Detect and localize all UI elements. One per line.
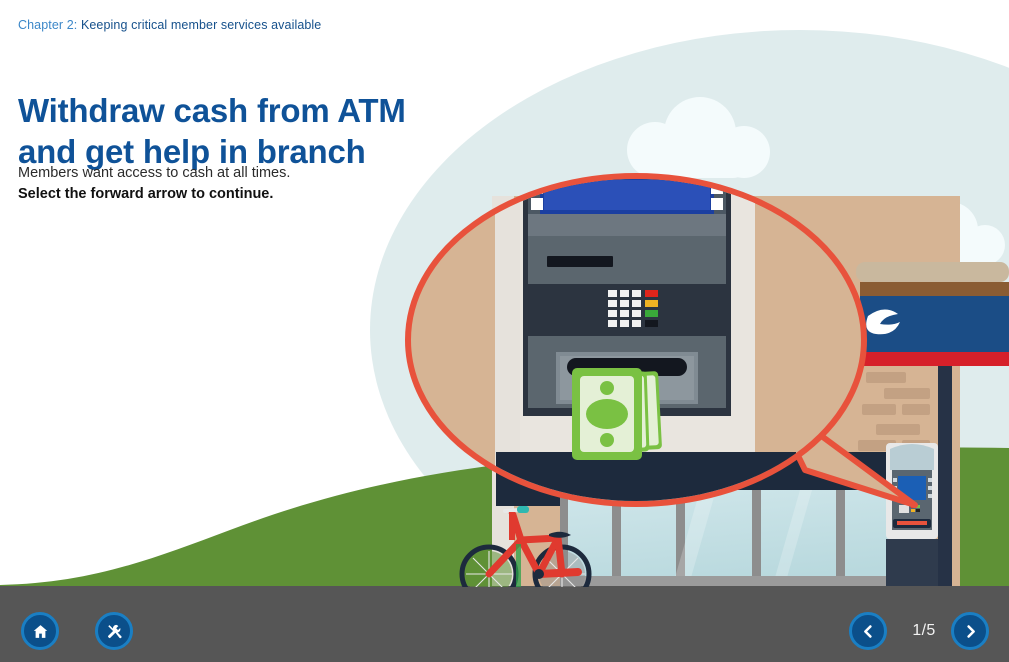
page-title: Withdraw cash from ATM and get help in b… (18, 90, 538, 172)
chapter-label: Chapter 2: Keeping critical member servi… (18, 18, 321, 32)
branch-sign (856, 262, 1009, 366)
chevron-left-icon (861, 624, 876, 639)
page-indicator: 1/5 (898, 620, 950, 642)
chapter-prefix: Chapter 2: (18, 18, 77, 32)
next-button[interactable] (951, 612, 989, 650)
body-line-1: Members want access to cash at all times… (18, 163, 478, 184)
tools-icon (106, 623, 123, 640)
previous-button[interactable] (849, 612, 887, 650)
chapter-title: Keeping critical member services availab… (77, 18, 321, 32)
home-icon (32, 623, 49, 640)
chevron-right-icon (963, 624, 978, 639)
home-button[interactable] (21, 612, 59, 650)
banknotes (572, 368, 662, 460)
wall-mounted-atm (886, 443, 938, 588)
tools-button[interactable] (95, 612, 133, 650)
body-line-2-instruction: Select the forward arrow to continue. (18, 184, 478, 205)
body-text: Members want access to cash at all times… (18, 163, 478, 205)
atm-dispensing-cash (495, 176, 796, 508)
slide-canvas: Chapter 2: Keeping critical member servi… (0, 0, 1009, 662)
page-title-line-1: Withdraw cash from ATM (18, 92, 406, 129)
